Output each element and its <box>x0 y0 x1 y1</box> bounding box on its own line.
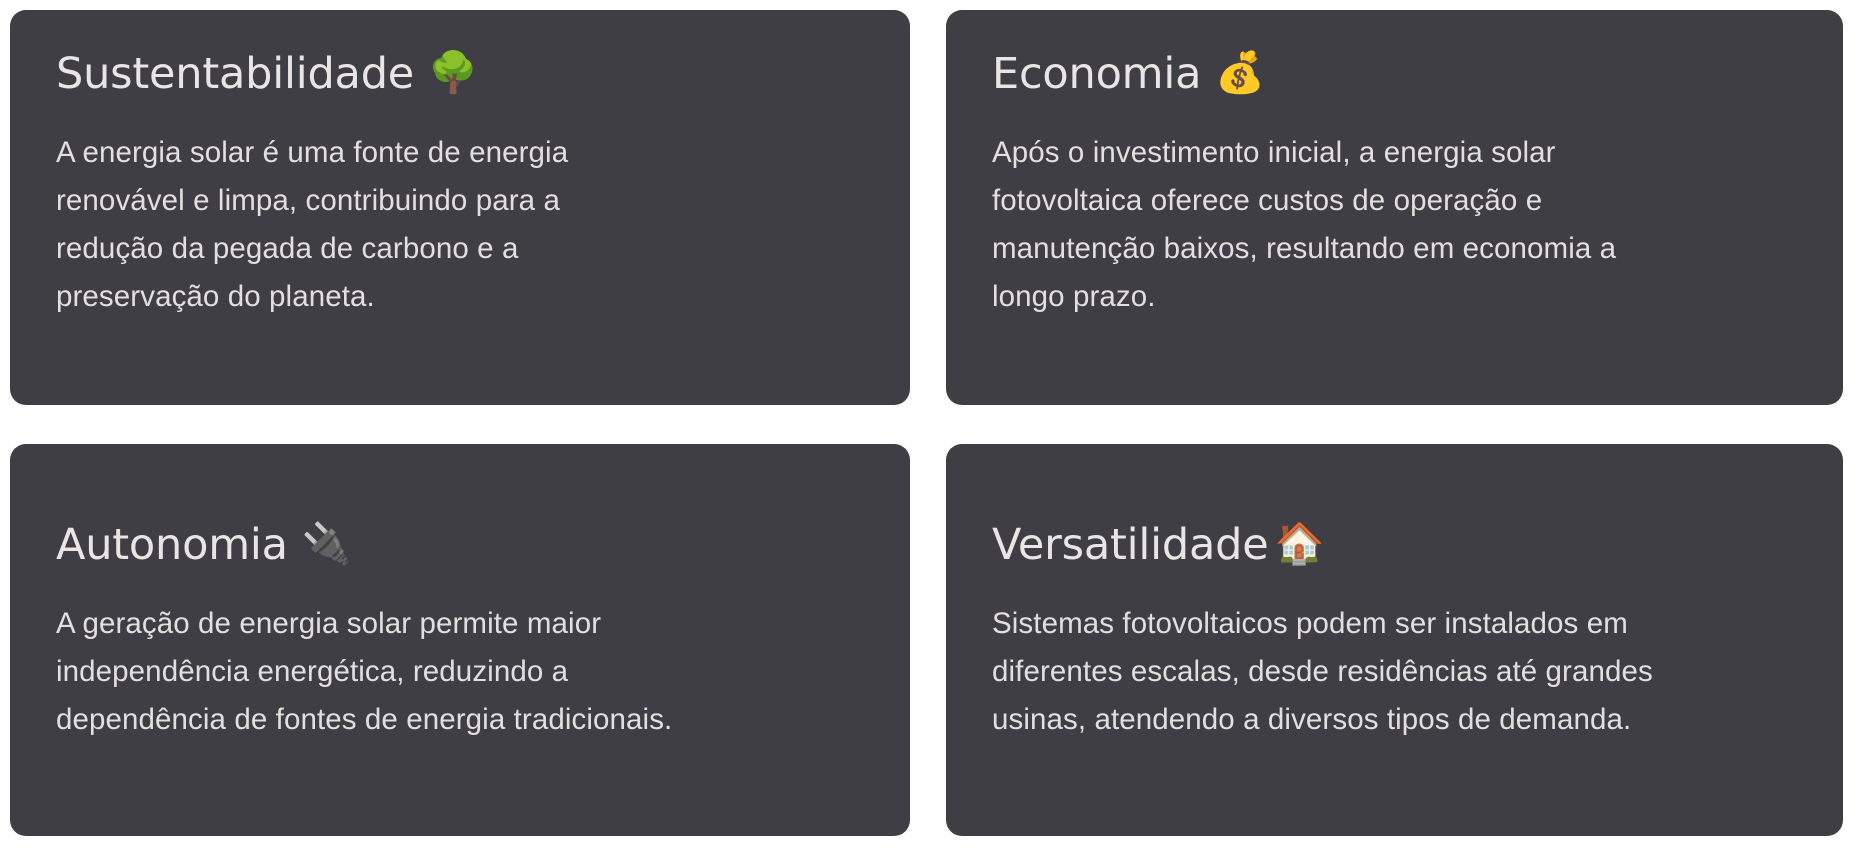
house-emoji: 🏠 <box>1274 524 1324 564</box>
money-bag-emoji: 💰 <box>1215 53 1265 93</box>
benefits-card-grid: Sustentabilidade 🌳 A energia solar é uma… <box>0 0 1856 850</box>
card-title-text: Versatilidade <box>992 520 1268 571</box>
card-title-economia: Economia 💰 <box>992 49 1799 100</box>
card-title-text: Sustentabilidade <box>56 49 414 100</box>
card-title-sustentabilidade: Sustentabilidade 🌳 <box>56 49 866 100</box>
card-body-autonomia: A geração de energia solar permite maior… <box>56 600 676 744</box>
card-body-economia: Após o investimento inicial, a energia s… <box>992 129 1672 321</box>
card-title-versatilidade: Versatilidade 🏠 <box>992 520 1799 571</box>
card-body-versatilidade: Sistemas fotovoltaicos podem ser instala… <box>992 600 1664 744</box>
benefit-card-economia[interactable]: Economia 💰 Após o investimento inicial, … <box>946 10 1843 405</box>
card-title-text: Economia <box>992 49 1201 100</box>
benefit-card-autonomia[interactable]: Autonomia 🔌 A geração de energia solar p… <box>10 444 910 836</box>
card-body-sustentabilidade: A energia solar é uma fonte de energia r… <box>56 129 656 321</box>
deciduous-tree-emoji: 🌳 <box>428 53 478 93</box>
benefit-card-sustentabilidade[interactable]: Sustentabilidade 🌳 A energia solar é uma… <box>10 10 910 405</box>
card-title-autonomia: Autonomia 🔌 <box>56 520 866 571</box>
electric-plug-emoji: 🔌 <box>302 524 352 564</box>
benefit-card-versatilidade[interactable]: Versatilidade 🏠 Sistemas fotovoltaicos p… <box>946 444 1843 836</box>
card-title-text: Autonomia <box>56 520 288 571</box>
